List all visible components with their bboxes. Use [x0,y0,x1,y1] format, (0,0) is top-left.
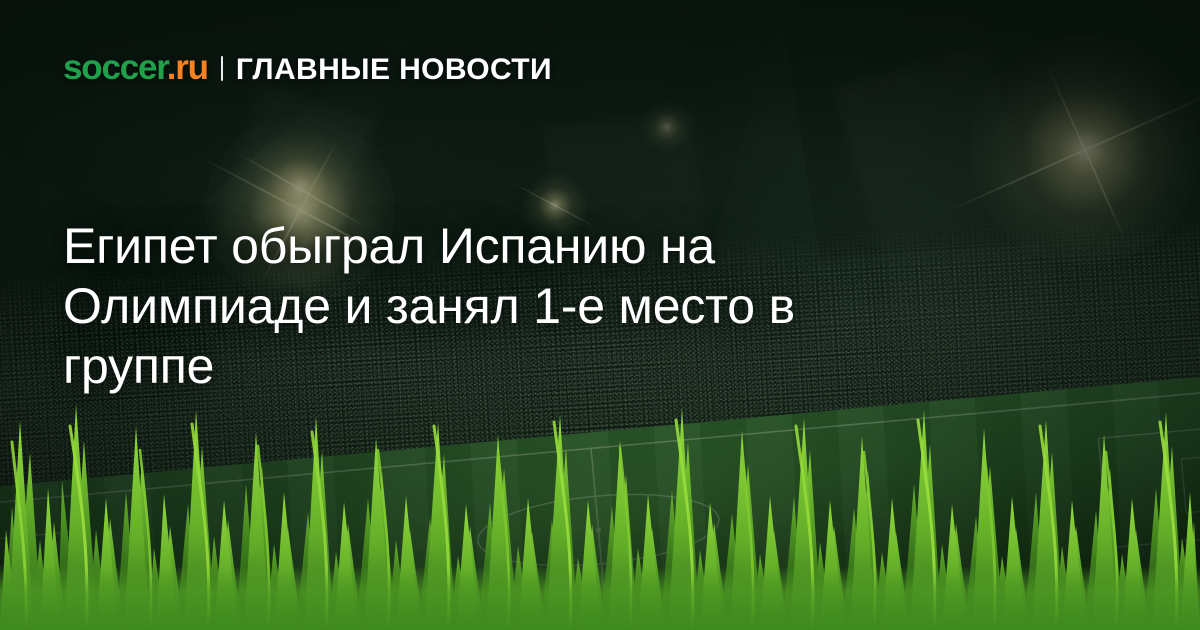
logo-text-primary: soccer [63,48,167,87]
site-header: soccer.ru ГЛАВНЫЕ НОВОСТИ [63,50,552,85]
headline-line-1: Египет обыграл Испанию на [63,216,993,276]
header-separator [221,56,223,81]
article-headline: Египет обыграл Испанию на Олимпиаде и за… [63,216,993,396]
header-kicker: ГЛАВНЫЕ НОВОСТИ [236,55,552,85]
logo-text-suffix: ru [175,48,208,87]
headline-line-3: группе [63,336,993,396]
logo-text-dot: . [167,48,176,87]
site-logo[interactable]: soccer.ru [63,50,208,85]
headline-line-2: Олимпиаде и занял 1-е место в [63,276,993,336]
share-card: soccer.ru ГЛАВНЫЕ НОВОСТИ Египет обыграл… [0,0,1200,630]
